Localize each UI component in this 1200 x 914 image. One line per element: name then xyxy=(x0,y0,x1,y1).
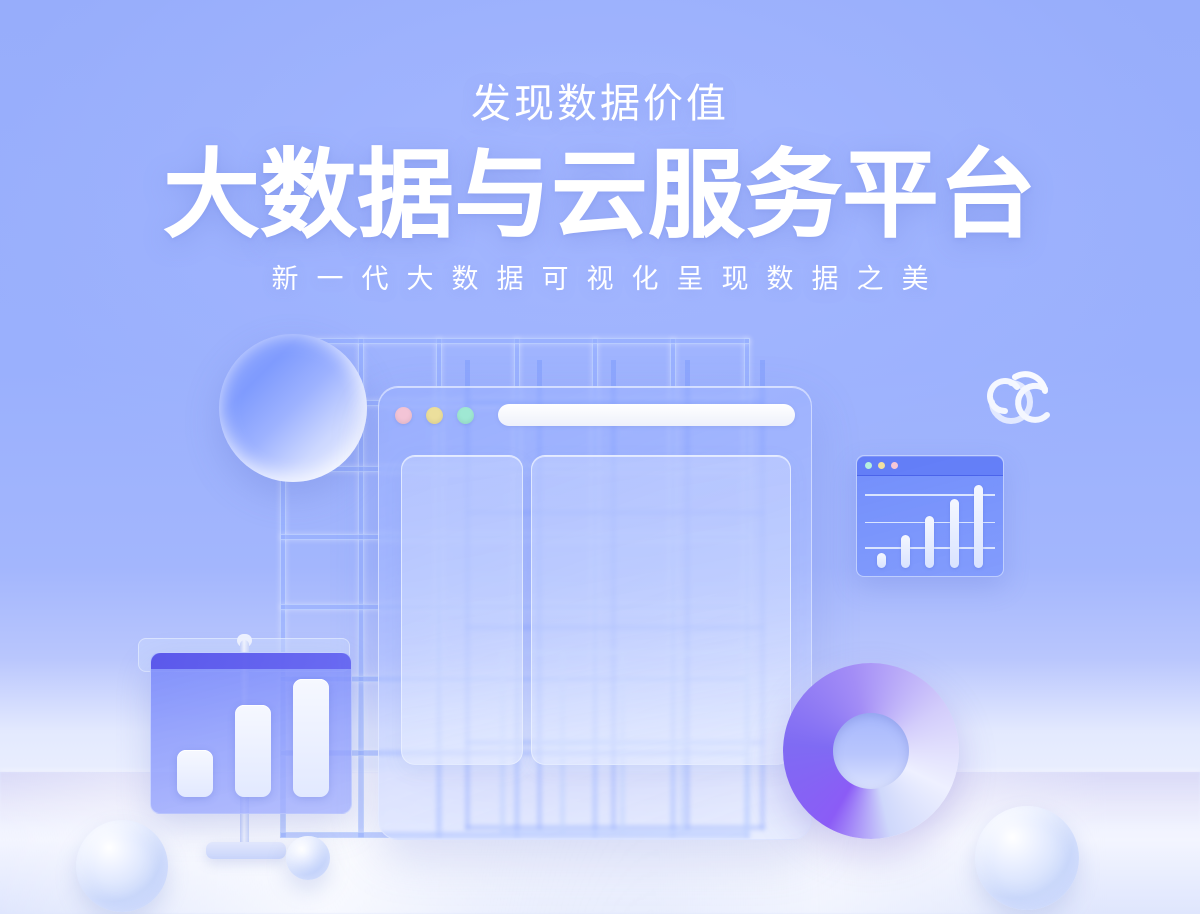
glass-sphere-left xyxy=(76,820,168,912)
bar xyxy=(177,750,213,797)
glass-sphere-right xyxy=(975,806,1079,910)
main-browser-mockup[interactable] xyxy=(378,386,812,840)
mini-dot-pink[interactable] xyxy=(891,462,898,469)
bar xyxy=(235,705,271,797)
content-pane[interactable] xyxy=(531,455,791,765)
mini-bar-chart xyxy=(865,482,995,568)
mini-bar-series xyxy=(869,482,991,568)
maximize-dot[interactable] xyxy=(457,407,474,424)
page-title: 大数据与云服务平台 xyxy=(0,148,1200,244)
minimize-dot[interactable] xyxy=(426,407,443,424)
glass-disc-shape xyxy=(219,334,367,482)
bar xyxy=(901,535,910,568)
hero-banner: 发现数据价值 大数据与云服务平台 新一代大数据可视化呈现数据之美 xyxy=(0,0,1200,914)
mini-dot-mint[interactable] xyxy=(865,462,872,469)
hero-tagline: 新一代大数据可视化呈现数据之美 xyxy=(0,266,1200,293)
browser-title-bar xyxy=(379,387,811,443)
sidebar-pane[interactable] xyxy=(401,455,523,765)
cloud-icon xyxy=(975,365,1063,437)
hero-eyebrow: 发现数据价值 xyxy=(0,84,1200,124)
bar xyxy=(925,516,934,568)
bar xyxy=(877,553,886,568)
card-bar-series xyxy=(177,679,329,797)
close-dot[interactable] xyxy=(395,407,412,424)
glass-sphere-small xyxy=(286,836,330,880)
hero-text-block: 发现数据价值 大数据与云服务平台 新一代大数据可视化呈现数据之美 xyxy=(0,84,1200,293)
card-panel xyxy=(150,652,352,814)
stand-base xyxy=(206,842,286,859)
address-bar[interactable] xyxy=(498,404,795,426)
donut-torus-shape xyxy=(783,663,959,839)
bar xyxy=(950,499,959,568)
bar xyxy=(293,679,329,797)
mini-window-title-bar xyxy=(857,456,1003,476)
bar xyxy=(974,485,983,568)
analytics-mini-window[interactable] xyxy=(856,455,1004,577)
card-header-band xyxy=(151,653,351,669)
mini-dot-yellow[interactable] xyxy=(878,462,885,469)
